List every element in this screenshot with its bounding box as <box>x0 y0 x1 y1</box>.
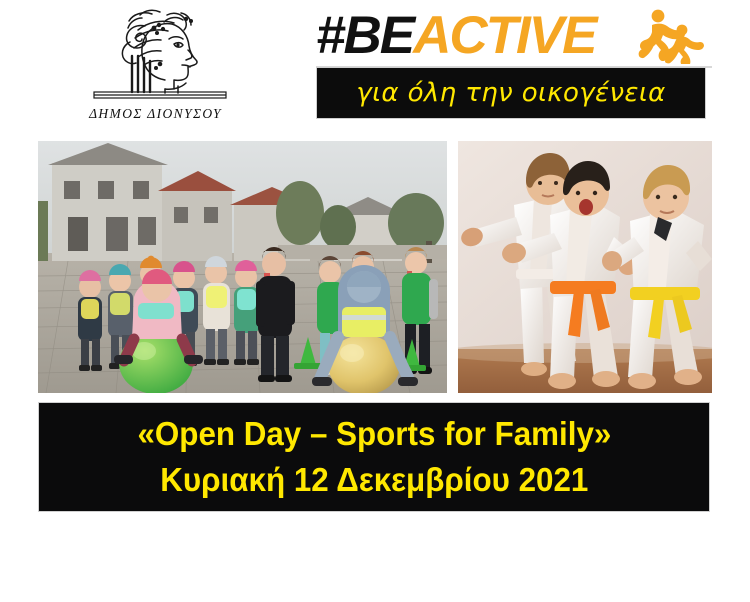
municipality-logo: ΔΗΜΟΣ ΔΙΟΝΥΣΟΥ <box>68 6 243 132</box>
dionysus-head-crest-icon <box>68 6 243 102</box>
photo-karate-kids <box>458 141 712 393</box>
title-banner-line-2: Κυριακή 12 Δεκεμβρίου 2021 <box>160 457 588 503</box>
poster-header: ΔΗΜΟΣ ΔΙΟΝΥΣΟΥ #BEACTIVE <box>0 0 750 138</box>
tagline-text: για όλη την οικογένεια <box>356 78 665 108</box>
title-banner-line-1: «Open Day – Sports for Family» <box>137 411 611 457</box>
title-banner: «Open Day – Sports for Family» Κυριακή 1… <box>38 402 710 512</box>
municipality-logo-caption: ΔΗΜΟΣ ΔΙΟΝΥΣΟΥ <box>68 106 243 122</box>
photo-row <box>38 141 712 393</box>
beactive-hash-be-text: #BE <box>316 6 413 65</box>
beactive-active-text: ACTIVE <box>413 6 595 65</box>
beactive-logo-block: #BEACTIVE για όλη την οικογένεια <box>316 4 712 122</box>
tagline-bar: για όλη την οικογένεια <box>316 67 706 119</box>
photo-family-sports <box>38 141 447 393</box>
two-running-figures-icon <box>634 8 708 64</box>
